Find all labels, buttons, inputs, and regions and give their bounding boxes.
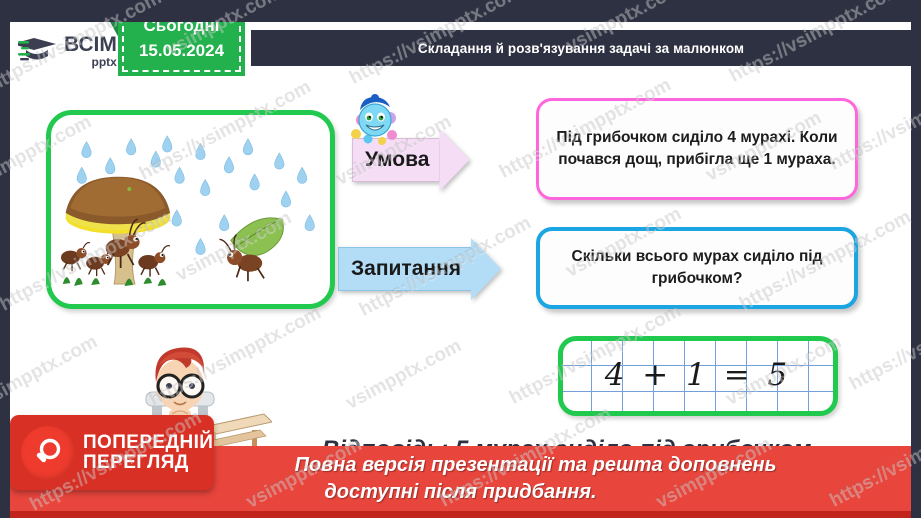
frame-edge-top (0, 0, 921, 22)
condition-text-box: Під грибочком сиділо 4 мурахі. Коли поча… (536, 98, 858, 200)
preview-badge-line-1: ПОПЕРЕДНІЙ (83, 433, 213, 453)
banner-line-2: доступні після придбання. (324, 479, 596, 506)
equation-box: 4 + 1 = 5 (558, 336, 838, 416)
slide-canvas: Умова Запитання Під грибочком сиділо 4 м… (0, 0, 921, 518)
frame-edge-right (911, 0, 921, 518)
date-flag-value: 15.05.2024 (139, 39, 224, 64)
question-text: Скільки всього мурах сиділо під грибочко… (540, 246, 854, 290)
arrow-zapytannya-label: Запитання (338, 247, 471, 291)
header-bar: Складання й розв'язування задачі за малю… (251, 30, 911, 66)
frame-edge-left (0, 0, 10, 518)
illustration-frame (46, 110, 335, 309)
logo-secondary-text: pptx (64, 56, 117, 68)
magnifier-icon (21, 426, 75, 480)
question-text-box: Скільки всього мурах сиділо під грибочко… (536, 227, 858, 309)
graduation-cap-icon (18, 34, 58, 68)
page-title: Складання й розв'язування задачі за малю… (418, 41, 744, 56)
arrow-zapytannya: Запитання (338, 238, 501, 300)
condition-text: Під грибочком сиділо 4 мурахі. Коли поча… (539, 127, 855, 171)
preview-badge[interactable]: ПОПЕРЕДНІЙ ПЕРЕГЛЯД (10, 415, 214, 490)
smiling-ball-mascot-icon (344, 94, 406, 152)
ants-under-mushroom-illustration (51, 115, 330, 304)
equation-text: 4 + 1 = 5 (563, 340, 833, 410)
arrow-head-icon (439, 129, 469, 191)
arrow-head-icon (471, 238, 501, 300)
preview-badge-line-2: ПЕРЕГЛЯД (83, 453, 213, 473)
banner-line-1: Повна версія презентації та решта доповн… (145, 452, 777, 479)
